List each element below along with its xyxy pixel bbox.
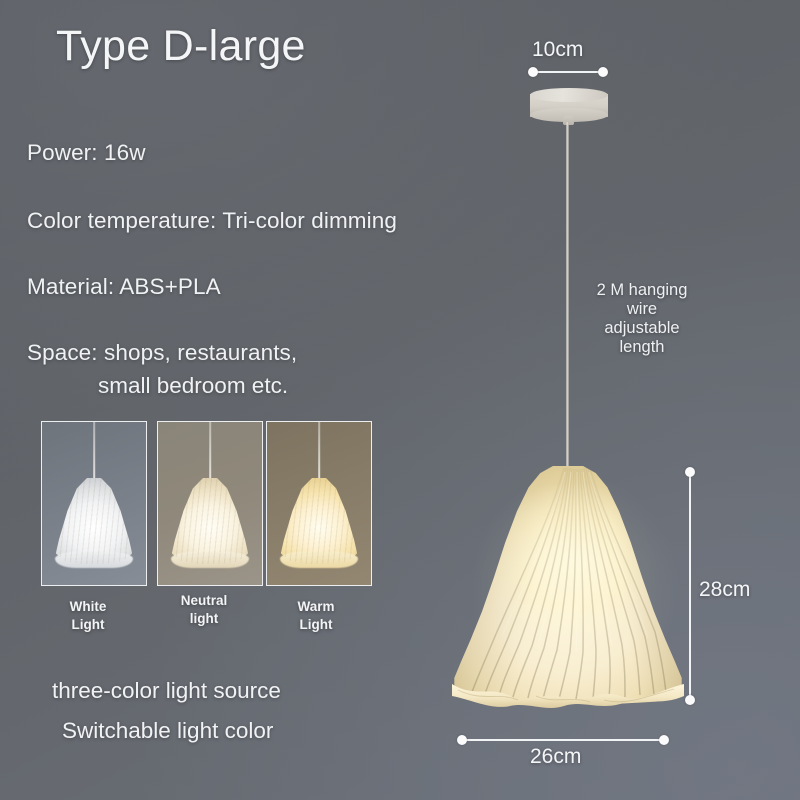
swatch-label-neutral-light: Neutral light [149, 592, 259, 628]
swatch-label-line1: Neutral [149, 592, 259, 610]
mini-cord [93, 422, 95, 480]
caption-switchable-color: Switchable light color [62, 718, 273, 744]
shade-ruffle-hem [448, 676, 688, 716]
caption-three-color-source: three-color light source [52, 678, 281, 704]
spec-color-temp: Color temperature: Tri-color dimming [27, 208, 397, 234]
mini-cord [318, 422, 320, 480]
swatch-label-white-light: White Light [33, 598, 143, 634]
swatch-label-line2: light [149, 610, 259, 628]
wire-note-line1: 2 M hanging [580, 281, 704, 300]
wire-note-line4: length [580, 338, 704, 357]
hanging-cord [566, 122, 569, 472]
wire-note-line2: wire [580, 300, 704, 319]
spec-power: Power: 16w [27, 140, 146, 166]
spec-material: Material: ABS+PLA [27, 274, 221, 300]
dimension-line-canopy-width [533, 71, 603, 73]
spec-space-line2: small bedroom etc. [98, 373, 288, 399]
swatch-warm-light[interactable] [266, 421, 372, 586]
swatch-label-line1: Warm [261, 598, 371, 616]
dimension-label-shade-width: 26cm [530, 745, 581, 769]
dimension-dot-height-bottom [685, 695, 695, 705]
swatch-label-line1: White [33, 598, 143, 616]
dimension-line-shade-height [689, 472, 691, 700]
product-spec-image: Type D-large Power: 16w Color temperatur… [0, 0, 800, 800]
spec-space: Space: shops, restaurants, [27, 340, 297, 366]
swatch-neutral-light[interactable] [157, 421, 263, 586]
mini-lamp-shade [55, 478, 133, 564]
mini-lamp-shade [280, 478, 358, 564]
dimension-dot-canopy-left [528, 67, 538, 77]
dimension-dot-height-top [685, 467, 695, 477]
main-lamp-shade [452, 466, 684, 704]
mini-cord [209, 422, 211, 480]
swatch-label-line2: Light [261, 616, 371, 634]
dimension-dot-canopy-right [598, 67, 608, 77]
dimension-label-canopy-width: 10cm [532, 38, 583, 62]
swatch-label-line2: Light [33, 616, 143, 634]
page-title: Type D-large [56, 22, 306, 71]
mini-lamp-shade [171, 478, 249, 564]
ceiling-canopy [530, 88, 608, 126]
hanging-wire-note: 2 M hanging wire adjustable length [580, 281, 704, 358]
dimension-label-shade-height: 28cm [699, 578, 750, 602]
dimension-dot-width-left [457, 735, 467, 745]
dimension-dot-width-right [659, 735, 669, 745]
swatch-label-warm-light: Warm Light [261, 598, 371, 634]
dimension-line-shade-width [462, 739, 664, 741]
swatch-white-light[interactable] [41, 421, 147, 586]
wire-note-line3: adjustable [580, 319, 704, 338]
